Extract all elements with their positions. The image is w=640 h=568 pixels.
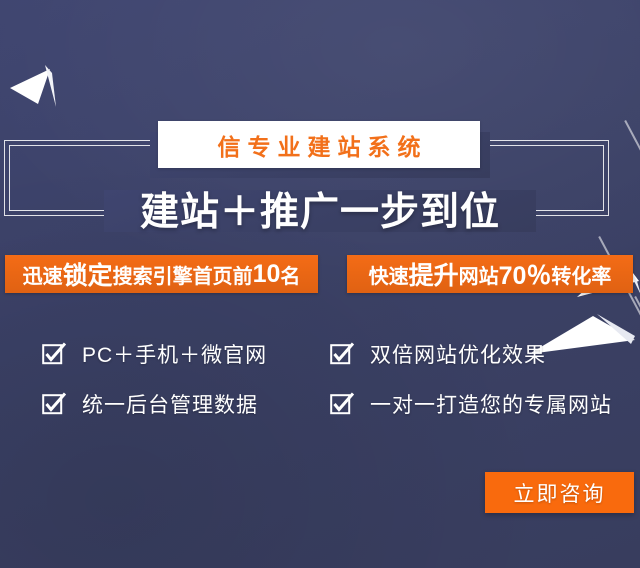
claim-prefix: 快速 [369, 260, 409, 289]
claim-bar-right: 快速提升网站70％转化率 [347, 255, 633, 293]
consult-now-button[interactable]: 立即咨询 [485, 472, 634, 513]
claim-middle: 网站 [459, 260, 499, 289]
checkbox-checked-icon [330, 392, 354, 416]
title-badge-text: 信专业建站系统 [211, 128, 428, 162]
list-item: 统一后台管理数据 [42, 388, 258, 420]
claim-number: 10 [253, 260, 281, 289]
page-title: 建站＋推广一步到位 [0, 181, 640, 237]
list-item: 一对一打造您的专属网站 [330, 388, 612, 420]
checkbox-checked-icon [42, 392, 66, 416]
list-item-label: 统一后台管理数据 [82, 389, 258, 419]
list-item-label: 一对一打造您的专属网站 [370, 389, 612, 419]
paper-plane-icon [8, 55, 68, 110]
list-item-label: 双倍网站优化效果 [370, 339, 546, 369]
list-item: PC＋手机＋微官网 [42, 338, 267, 370]
title-badge: 信专业建站系统 [158, 121, 480, 168]
claim-middle: 搜索引擎首页前 [113, 260, 253, 289]
claim-emphasis: 提升 [409, 256, 459, 292]
checkbox-checked-icon [330, 342, 354, 366]
checkbox-checked-icon [42, 342, 66, 366]
promo-banner: 信专业建站系统 建站＋推广一步到位 迅速锁定搜索引擎首页前10名 快速提升网站7… [0, 0, 640, 568]
list-item-label: PC＋手机＋微官网 [82, 339, 267, 369]
claim-bar-left: 迅速锁定搜索引擎首页前10名 [5, 255, 318, 293]
claim-emphasis: 锁定 [63, 256, 113, 292]
claim-suffix: 名 [280, 260, 300, 289]
feature-list: PC＋手机＋微官网 统一后台管理数据 双倍网站优化效果 [0, 330, 640, 430]
list-item: 双倍网站优化效果 [330, 338, 546, 370]
claim-suffix: 转化率 [551, 260, 611, 289]
claim-number: 70％ [499, 256, 552, 292]
claim-prefix: 迅速 [23, 260, 63, 289]
consult-now-button-label: 立即咨询 [514, 478, 606, 508]
